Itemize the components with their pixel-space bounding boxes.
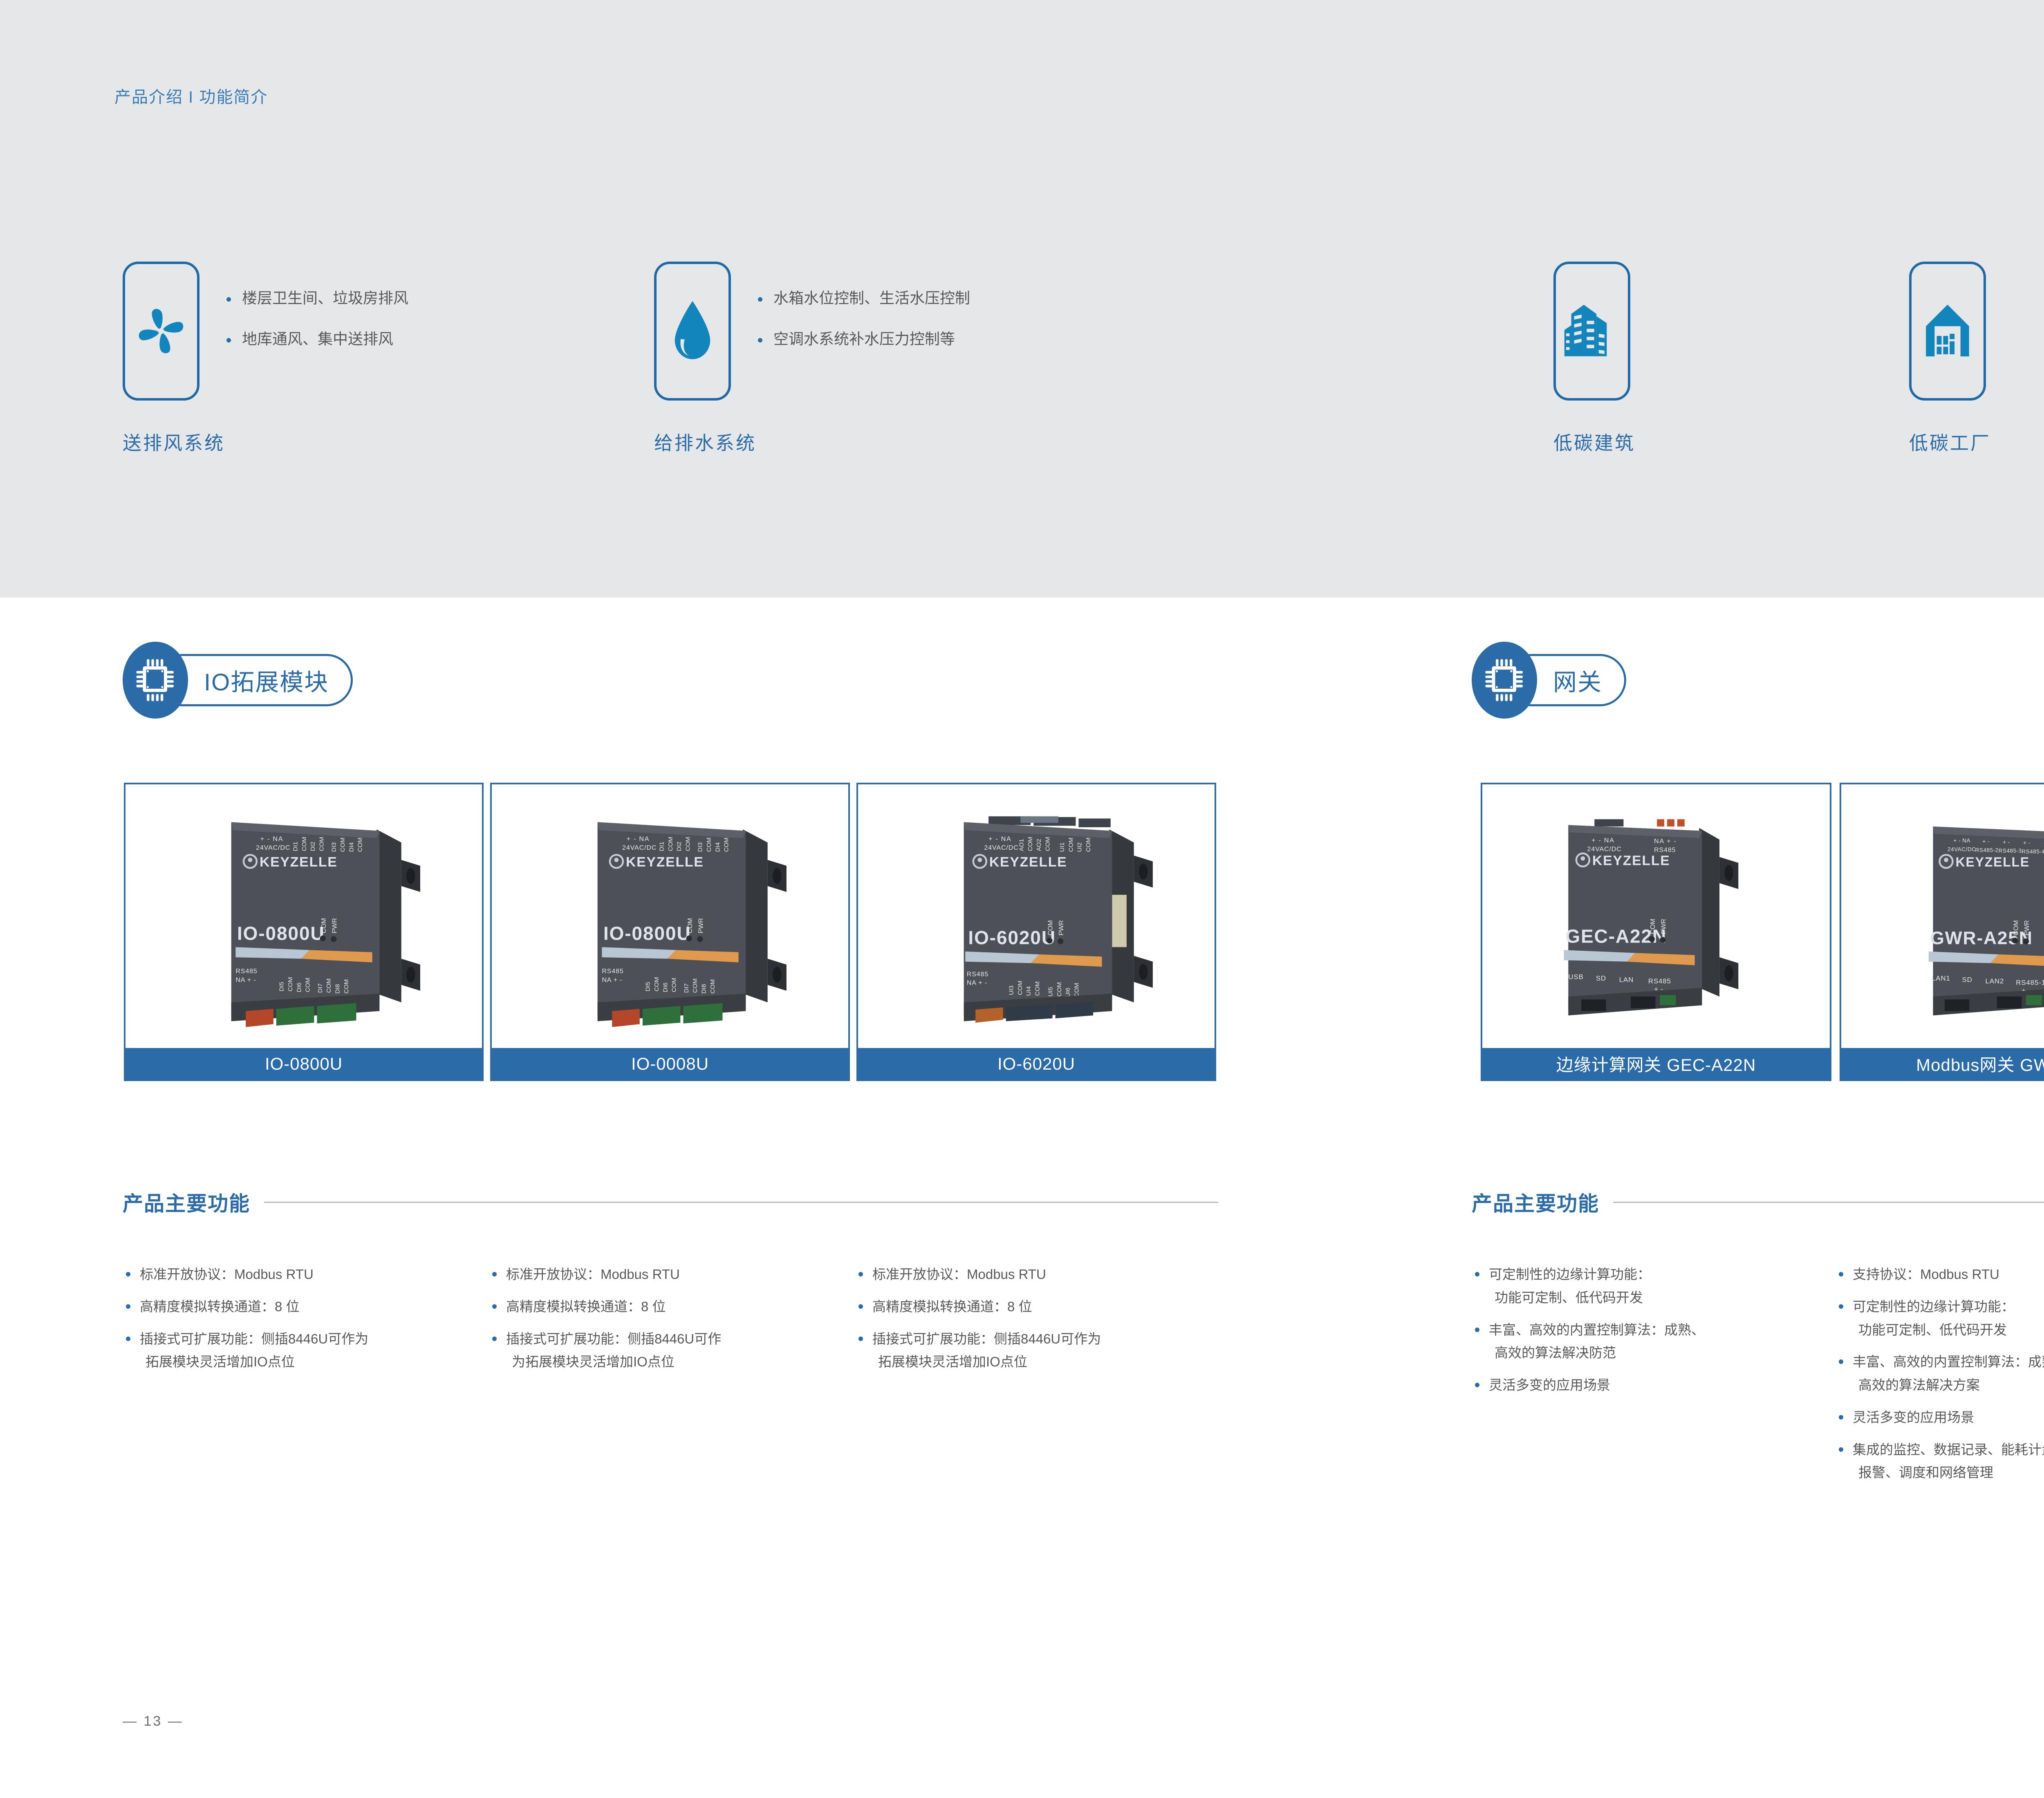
svg-text:NA + -: NA + - bbox=[602, 977, 622, 984]
svg-text:DI7: DI7 bbox=[317, 983, 324, 993]
application-block-ventilation: 楼层卫生间、垃圾房排风 地库通风、集中送排风 送排风系统 bbox=[123, 262, 408, 455]
svg-text:+ -: + - bbox=[2003, 839, 2010, 845]
svg-text:+ - NA: + - NA bbox=[1953, 837, 1970, 844]
product-photo: KEYZELLE + - NA + - + - + - + - 24VAC/DC… bbox=[1841, 784, 2044, 1048]
svg-text:+ - NA: + - NA bbox=[260, 836, 283, 843]
scenario-label: 低碳建筑 bbox=[1553, 428, 1635, 455]
features-column-gateway-1: 可定制性的边缘计算功能： 功能可定制、低代码开发 丰富、高效的内置控制算法：成熟… bbox=[1472, 1263, 1816, 1406]
features-column-io-3: 标准开放协议：Modbus RTU 高精度模拟转换通道：8 位 插接式可扩展功能… bbox=[856, 1263, 1208, 1383]
list-item-line-cont: 拓展模块灵活增加IO点位 bbox=[140, 1350, 475, 1374]
svg-text:DI2: DI2 bbox=[309, 842, 316, 851]
device-illustration-io-0008u: KEYZELLE + - NA 24VAC/DC DI1 COM DI2 COM… bbox=[492, 784, 850, 1046]
svg-text:IO-6020U: IO-6020U bbox=[968, 927, 1056, 948]
svg-text:RS485: RS485 bbox=[235, 968, 257, 975]
product-card-io-0008u[interactable]: KEYZELLE + - NA 24VAC/DC DI1 COM DI2 COM… bbox=[490, 783, 850, 1081]
svg-text:COM: COM bbox=[1085, 837, 1092, 852]
product-caption: IO-6020U bbox=[858, 1048, 1215, 1079]
factory-icon-frame bbox=[1909, 262, 1986, 401]
office-building-icon-frame bbox=[1553, 262, 1630, 401]
svg-text:AO2: AO2 bbox=[1035, 839, 1042, 851]
list-item: 水箱水位控制、生活水压控制 bbox=[758, 289, 970, 307]
cpu-chip-icon bbox=[134, 656, 177, 704]
factory-icon bbox=[1921, 300, 1975, 362]
svg-text:LAN: LAN bbox=[1619, 976, 1634, 984]
product-photo: KEYZELLE + - NA 24VAC/DC DI1 COM DI2 COM… bbox=[126, 784, 482, 1048]
product-photo: KEYZELLE + - NA 24VAC/DC DI1 COM DI2 COM… bbox=[492, 784, 848, 1048]
svg-text:DI3: DI3 bbox=[331, 842, 338, 852]
svg-text:RS485: RS485 bbox=[967, 971, 988, 978]
list-item-line: 插接式可扩展功能：侧插8446U可作为 bbox=[140, 1331, 368, 1346]
application-label-ventilation: 送排风系统 bbox=[123, 428, 408, 455]
list-item-line-cont: 高效的算法解决方案 bbox=[1853, 1374, 2044, 1397]
svg-text:COM: COM bbox=[301, 837, 308, 851]
device-illustration-gwr-a25n: KEYZELLE + - NA + - + - + - + - 24VAC/DC… bbox=[1841, 784, 2044, 1046]
svg-text:IO-0800U: IO-0800U bbox=[603, 923, 691, 944]
svg-text:DI8: DI8 bbox=[334, 984, 341, 994]
list-item-line-cont: 功能可定制、低代码开发 bbox=[1853, 1319, 2044, 1342]
list-item-line-cont: 高效的算法解决防范 bbox=[1489, 1341, 1816, 1365]
svg-text:COM: COM bbox=[1047, 920, 1054, 935]
list-item: 高精度模拟转换通道：8 位 bbox=[123, 1295, 475, 1319]
list-item: 灵活多变的应用场景 bbox=[1472, 1374, 1816, 1397]
list-item: 插接式可扩展功能：侧插8446U可作 为拓展模块灵活增加IO点位 bbox=[490, 1328, 841, 1374]
device-illustration-io-0800u: KEYZELLE + - NA 24VAC/DC DI1 COM DI2 COM… bbox=[126, 784, 484, 1046]
svg-text:24VAC/DC: 24VAC/DC bbox=[256, 844, 290, 851]
svg-text:+ - NA: + - NA bbox=[988, 836, 1011, 843]
list-item: 空调水系统补水压力控制等 bbox=[758, 330, 970, 348]
device-illustration-gec-a22n: KEYZELLE + - NA 24VAC/DC NA + - RS485 GE… bbox=[1482, 784, 1831, 1046]
svg-text:COM: COM bbox=[1017, 981, 1024, 995]
features-title: 产品主要功能 bbox=[123, 1187, 250, 1217]
svg-text:LAN2: LAN2 bbox=[1986, 977, 2004, 985]
svg-text:COM: COM bbox=[1074, 983, 1080, 997]
svg-text:COM: COM bbox=[318, 837, 325, 851]
list-item-line-cont: 报警、调度和网络管理 bbox=[1853, 1461, 2044, 1485]
svg-text:DI6: DI6 bbox=[296, 983, 303, 992]
list-item-line: 可定制性的边缘计算功能： bbox=[1853, 1299, 2015, 1314]
water-drop-icon bbox=[668, 298, 717, 364]
svg-text:COM: COM bbox=[1056, 982, 1063, 996]
svg-text:COM: COM bbox=[709, 979, 716, 994]
svg-text:RS485-4: RS485-4 bbox=[2022, 849, 2044, 855]
svg-text:+ -: + - bbox=[2023, 840, 2031, 846]
water-drop-icon-frame bbox=[654, 262, 731, 401]
list-item: 丰富、高效的内置控制算法：成熟、 高效的算法解决防范 bbox=[1472, 1319, 1816, 1365]
features-column-gateway-2: 支持协议：Modbus RTU 可定制性的边缘计算功能： 功能可定制、低代码开发… bbox=[1836, 1263, 2044, 1493]
svg-text:COM: COM bbox=[706, 837, 713, 852]
svg-text:LAN1: LAN1 bbox=[1932, 974, 1950, 982]
svg-text:DI6: DI6 bbox=[662, 983, 669, 992]
svg-text:RS485-3: RS485-3 bbox=[1999, 848, 2022, 854]
svg-text:KEYZELLE: KEYZELLE bbox=[626, 854, 704, 870]
section-title-text: 网关 bbox=[1553, 663, 1602, 697]
svg-text:PWR: PWR bbox=[1058, 920, 1065, 935]
svg-text:UI3: UI3 bbox=[1008, 985, 1015, 995]
product-caption: IO-0800U bbox=[126, 1048, 482, 1079]
svg-text:KEYZELLE: KEYZELLE bbox=[260, 854, 338, 870]
section-badge-gateway: 网关 bbox=[1472, 642, 1626, 719]
list-item: 高精度模拟转换通道：8 位 bbox=[490, 1295, 841, 1319]
svg-text:COM: COM bbox=[305, 978, 312, 992]
svg-text:COM: COM bbox=[1027, 837, 1034, 851]
svg-text:DI5: DI5 bbox=[278, 982, 285, 992]
svg-text:+ -: + - bbox=[1982, 838, 1990, 844]
chip-icon-circle bbox=[1472, 642, 1537, 719]
list-item: 标准开放协议：Modbus RTU bbox=[123, 1263, 475, 1286]
svg-text:UI5: UI5 bbox=[1047, 987, 1054, 997]
list-item-line: 丰富、高效的内置控制算法：成熟、 bbox=[1489, 1322, 1705, 1337]
list-item-line-cont: 功能可定制、低代码开发 bbox=[1489, 1286, 1816, 1310]
svg-text:SD: SD bbox=[1596, 974, 1606, 982]
svg-text:COM: COM bbox=[1067, 837, 1074, 852]
features-title: 产品主要功能 bbox=[1472, 1187, 1599, 1217]
svg-text:SD: SD bbox=[1962, 976, 1972, 984]
svg-text:RS485: RS485 bbox=[602, 968, 623, 975]
svg-text:IO-0800U: IO-0800U bbox=[237, 923, 325, 944]
ventilation-bullets: 楼层卫生间、垃圾房排风 地库通风、集中送排风 bbox=[226, 262, 408, 349]
svg-text:DI2: DI2 bbox=[676, 842, 683, 851]
product-caption: IO-0008U bbox=[492, 1048, 848, 1079]
svg-text:COM: COM bbox=[667, 837, 674, 851]
svg-text:USB: USB bbox=[1568, 973, 1583, 981]
svg-text:COM: COM bbox=[1034, 981, 1041, 996]
svg-text:COM: COM bbox=[325, 978, 332, 993]
svg-text:PWR: PWR bbox=[1661, 919, 1667, 934]
heading-rule bbox=[1613, 1202, 2044, 1203]
svg-text:COM: COM bbox=[653, 977, 660, 991]
svg-text:NA + -: NA + - bbox=[1654, 838, 1677, 845]
svg-text:DI1: DI1 bbox=[292, 842, 299, 851]
list-item: 支持协议：Modbus RTU bbox=[1836, 1263, 2044, 1286]
page-number-left: — 13 — bbox=[123, 1713, 184, 1729]
features-heading-io: 产品主要功能 bbox=[123, 1187, 1218, 1217]
svg-text:DI7: DI7 bbox=[683, 983, 690, 993]
list-item: 插接式可扩展功能：侧插8446U可作为 拓展模块灵活增加IO点位 bbox=[856, 1328, 1208, 1374]
svg-text:COM: COM bbox=[1650, 919, 1656, 934]
svg-text:AO1: AO1 bbox=[1018, 839, 1025, 851]
list-item: 灵活多变的应用场景 bbox=[1836, 1406, 2044, 1429]
svg-text:RS485: RS485 bbox=[1654, 846, 1676, 853]
scenario-tile-low-carbon-factory: 低碳工厂 bbox=[1909, 262, 1991, 455]
section-title-text: IO拓展模块 bbox=[204, 663, 329, 697]
office-building-icon bbox=[1563, 301, 1620, 361]
svg-text:RS485-2: RS485-2 bbox=[1975, 847, 1999, 853]
svg-text:DI3: DI3 bbox=[697, 842, 704, 852]
scenario-label: 低碳工厂 bbox=[1909, 428, 1991, 455]
scenario-tile-low-carbon-building: 低碳建筑 bbox=[1553, 262, 1635, 455]
chip-icon-circle bbox=[123, 642, 188, 719]
list-item-line-cont: 为拓展模块灵活增加IO点位 bbox=[506, 1350, 841, 1374]
svg-text:24VAC/DC: 24VAC/DC bbox=[1587, 846, 1622, 853]
product-card-gwr-a25n[interactable]: KEYZELLE + - NA + - + - + - + - 24VAC/DC… bbox=[1840, 783, 2044, 1081]
svg-text:UI4: UI4 bbox=[1025, 986, 1032, 996]
device-illustration-io-6020u: KEYZELLE + - NA 24VAC/DC AO1 COM AO2 COM… bbox=[858, 784, 1216, 1046]
svg-text:COM: COM bbox=[287, 977, 294, 991]
list-item: 标准开放协议：Modbus RTU bbox=[856, 1263, 1208, 1286]
svg-text:COM: COM bbox=[687, 918, 694, 933]
product-card-gec-a22n[interactable]: KEYZELLE + - NA 24VAC/DC NA + - RS485 GE… bbox=[1481, 783, 1831, 1081]
features-heading-gateway: 产品主要功能 bbox=[1472, 1187, 2044, 1217]
product-card-io-6020u[interactable]: KEYZELLE + - NA 24VAC/DC AO1 COM AO2 COM… bbox=[856, 783, 1216, 1081]
list-item-line: 插接式可扩展功能：侧插8446U可作 bbox=[506, 1331, 721, 1346]
svg-text:KEYZELLE: KEYZELLE bbox=[989, 854, 1067, 870]
svg-text:DI8: DI8 bbox=[701, 984, 708, 994]
product-card-io-0800u[interactable]: KEYZELLE + - NA 24VAC/DC DI1 COM DI2 COM… bbox=[124, 783, 484, 1081]
product-caption: 边缘计算网关 GEC-A22N bbox=[1482, 1048, 1830, 1079]
svg-text:DI4: DI4 bbox=[714, 842, 721, 852]
svg-text:COM: COM bbox=[343, 979, 350, 994]
list-item: 丰富、高效的内置控制算法：成熟、 高效的算法解决方案 bbox=[1836, 1350, 2044, 1397]
svg-text:COM: COM bbox=[692, 978, 699, 993]
product-caption: Modbus网关 GWR-A25N bbox=[1841, 1048, 2044, 1079]
list-item-line: 集成的监控、数据记录、能耗计量、 bbox=[1853, 1442, 2044, 1457]
product-photo: KEYZELLE + - NA 24VAC/DC NA + - RS485 GE… bbox=[1482, 784, 1830, 1048]
water-bullets: 水箱水位控制、生活水压控制 空调水系统补水压力控制等 bbox=[758, 262, 970, 349]
list-item-line: 丰富、高效的内置控制算法：成熟、 bbox=[1853, 1354, 2044, 1369]
svg-text:NA + -: NA + - bbox=[235, 977, 256, 984]
svg-text:COM: COM bbox=[671, 978, 678, 992]
svg-text:NA + -: NA + - bbox=[967, 980, 987, 987]
list-item: 插接式可扩展功能：侧插8446U可作为 拓展模块灵活增加IO点位 bbox=[123, 1328, 475, 1374]
svg-text:KEYZELLE: KEYZELLE bbox=[1956, 855, 2030, 869]
svg-text:COM: COM bbox=[684, 837, 691, 851]
section-badge-io-modules: IO拓展模块 bbox=[123, 642, 353, 719]
svg-text:COM: COM bbox=[320, 918, 327, 933]
svg-text:UI2: UI2 bbox=[1076, 842, 1083, 852]
svg-text:COM: COM bbox=[339, 837, 346, 852]
svg-text:COM: COM bbox=[723, 837, 730, 852]
svg-text:RS485: RS485 bbox=[1648, 977, 1671, 985]
running-header-left: 产品介绍 I 功能简介 bbox=[114, 84, 268, 107]
list-item: 集成的监控、数据记录、能耗计量、 报警、调度和网络管理 bbox=[1836, 1438, 2044, 1485]
svg-text:COM: COM bbox=[357, 837, 364, 852]
svg-text:+ - NA: + - NA bbox=[1591, 837, 1614, 844]
svg-text:24VAC/DC: 24VAC/DC bbox=[622, 844, 657, 851]
svg-text:PWR: PWR bbox=[2024, 920, 2031, 935]
svg-text:PWR: PWR bbox=[331, 918, 338, 933]
list-item: 地库通风、集中送排风 bbox=[226, 330, 408, 348]
cpu-chip-icon bbox=[1483, 656, 1526, 704]
list-item-line-cont: 拓展模块灵活增加IO点位 bbox=[872, 1350, 1208, 1374]
svg-text:UI1: UI1 bbox=[1059, 842, 1066, 852]
list-item: 可定制性的边缘计算功能： 功能可定制、低代码开发 bbox=[1472, 1263, 1816, 1310]
svg-text:DI5: DI5 bbox=[645, 982, 652, 992]
svg-text:24VAC/DC: 24VAC/DC bbox=[1948, 846, 1976, 853]
svg-text:UI6: UI6 bbox=[1065, 987, 1071, 997]
list-item: 楼层卫生间、垃圾房排风 bbox=[226, 289, 408, 307]
fan-icon-frame bbox=[123, 262, 199, 401]
product-photo: KEYZELLE + - NA 24VAC/DC AO1 COM AO2 COM… bbox=[858, 784, 1215, 1048]
list-item-line: 可定制性的边缘计算功能： bbox=[1489, 1267, 1651, 1282]
features-column-io-2: 标准开放协议：Modbus RTU 高精度模拟转换通道：8 位 插接式可扩展功能… bbox=[490, 1263, 841, 1383]
svg-text:DI4: DI4 bbox=[348, 842, 355, 852]
application-label-water: 给排水系统 bbox=[654, 428, 970, 455]
svg-text:KEYZELLE: KEYZELLE bbox=[1592, 853, 1670, 868]
svg-text:COM: COM bbox=[1044, 837, 1051, 851]
list-item-line: 插接式可扩展功能：侧插8446U可作为 bbox=[872, 1331, 1101, 1346]
list-item: 高精度模拟转换通道：8 位 bbox=[856, 1295, 1208, 1319]
list-item: 可定制性的边缘计算功能： 功能可定制、低代码开发 bbox=[1836, 1295, 2044, 1342]
svg-text:DI1: DI1 bbox=[658, 842, 665, 851]
list-item: 标准开放协议：Modbus RTU bbox=[490, 1263, 841, 1286]
fan-icon bbox=[134, 304, 188, 358]
svg-text:RS485-1: RS485-1 bbox=[2016, 979, 2044, 987]
svg-text:PWR: PWR bbox=[697, 918, 704, 933]
svg-text:24VAC/DC: 24VAC/DC bbox=[984, 844, 1018, 851]
svg-text:+ - NA: + - NA bbox=[627, 836, 650, 843]
application-block-water: 水箱水位控制、生活水压控制 空调水系统补水压力控制等 给排水系统 bbox=[654, 262, 970, 455]
heading-rule bbox=[264, 1202, 1218, 1203]
svg-text:COM: COM bbox=[2013, 920, 2020, 935]
features-column-io-1: 标准开放协议：Modbus RTU 高精度模拟转换通道：8 位 插接式可扩展功能… bbox=[123, 1263, 475, 1383]
